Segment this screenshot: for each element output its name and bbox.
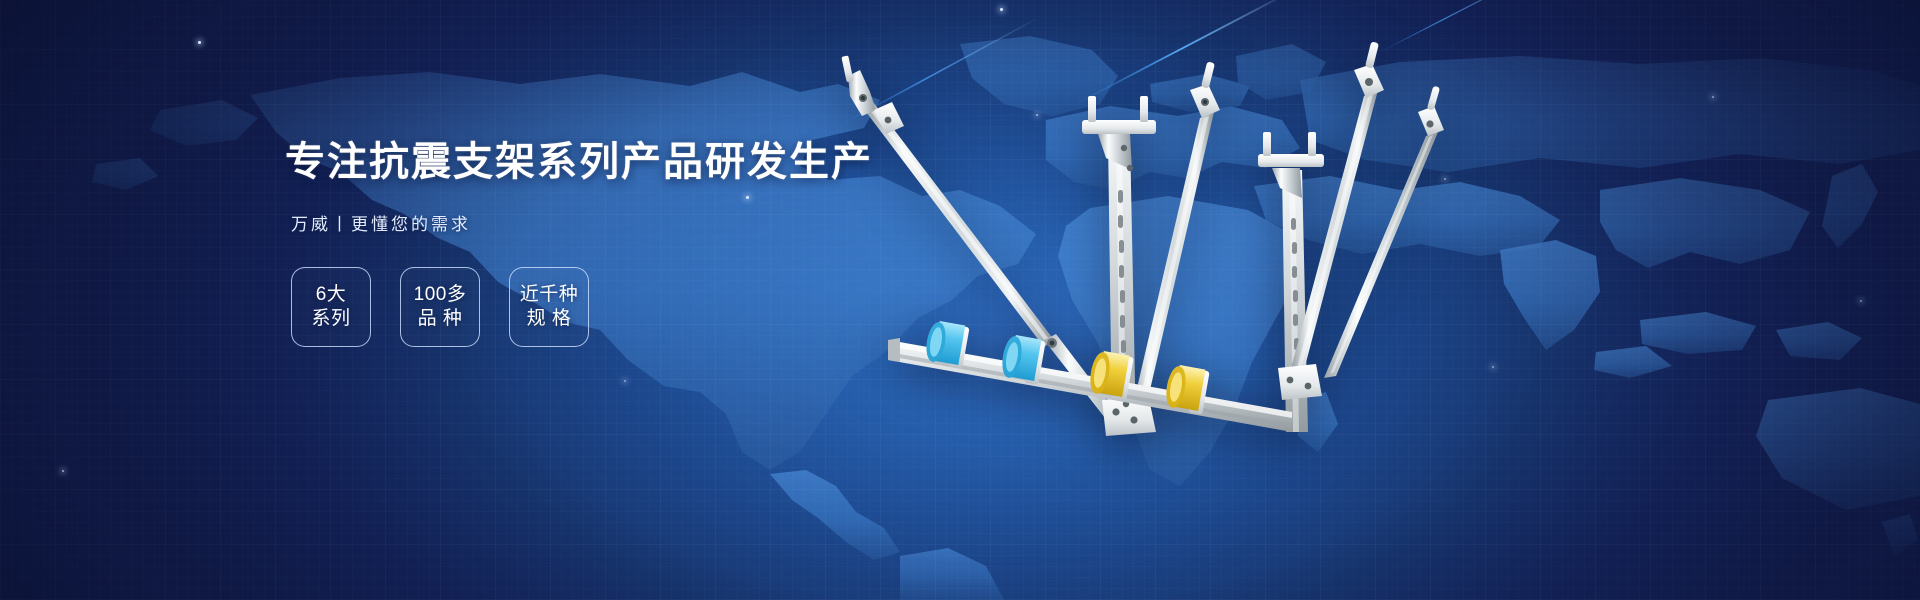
stat-badge-specs-line1: 近千种 (520, 283, 579, 307)
hub-joint-right (1278, 364, 1322, 400)
stat-badge-specs[interactable]: 近千种 规 格 (509, 267, 589, 347)
stat-badge-varieties-line2: 品 种 (418, 307, 463, 331)
brace-right-inner (1324, 86, 1444, 378)
hero-copy: 专注抗震支架系列产品研发生产 万威丨更懂您的需求 6大 系列 100多 品 种 … (285, 140, 905, 347)
stat-badge-series[interactable]: 6大 系列 (291, 267, 371, 347)
stat-badge-specs-line2: 规 格 (527, 307, 572, 331)
stat-badge-series-line1: 6大 (316, 283, 347, 307)
hero-banner: 专注抗震支架系列产品研发生产 万威丨更懂您的需求 6大 系列 100多 品 种 … (0, 0, 1920, 600)
stat-badge-series-line2: 系列 (311, 307, 350, 331)
brace-right-outer (1290, 41, 1384, 372)
stat-badge-varieties[interactable]: 100多 品 种 (400, 267, 480, 347)
stat-badge-group: 6大 系列 100多 品 种 近千种 规 格 (291, 267, 905, 347)
page-title: 专注抗震支架系列产品研发生产 (285, 140, 905, 184)
page-subtitle: 万威丨更懂您的需求 (291, 210, 905, 235)
stat-badge-varieties-line1: 100多 (414, 283, 467, 307)
product-illustration (830, 40, 1450, 460)
